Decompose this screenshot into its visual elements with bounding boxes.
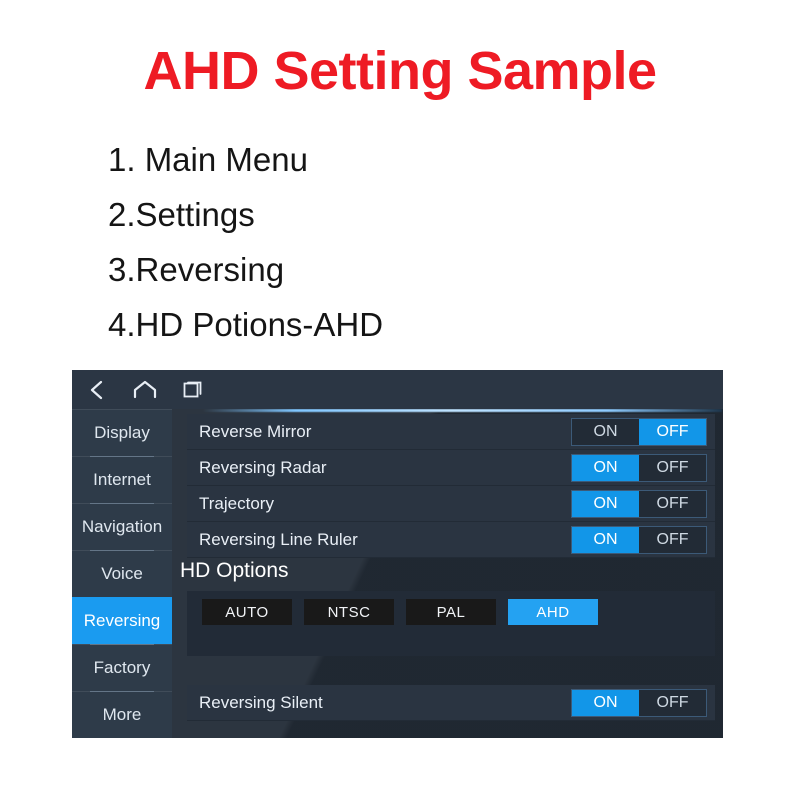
setting-row-reverse-mirror: Reverse Mirror ON OFF xyxy=(187,414,715,450)
setting-row-reversing-silent: Reversing Silent ON OFF xyxy=(187,685,715,721)
step-item-4: 4.HD Potions-AHD xyxy=(108,297,383,352)
sidebar-item-label: Reversing xyxy=(84,611,161,631)
sidebar-item-label: Display xyxy=(94,423,150,443)
step-item-2: 2.Settings xyxy=(108,187,383,242)
sidebar-item-more[interactable]: More xyxy=(72,691,172,738)
setting-label: Reversing Line Ruler xyxy=(199,530,358,550)
page-title: AHD Setting Sample xyxy=(0,44,800,98)
toggle-option-off[interactable]: OFF xyxy=(639,491,706,517)
sidebar-item-voice[interactable]: Voice xyxy=(72,550,172,597)
toggle-option-off[interactable]: OFF xyxy=(639,690,706,716)
sidebar-item-factory[interactable]: Factory xyxy=(72,644,172,691)
sidebar-item-label: Voice xyxy=(101,564,143,584)
toggle-option-on[interactable]: ON xyxy=(572,455,639,481)
toggle-option-off[interactable]: OFF xyxy=(639,527,706,553)
hd-option-label: AHD xyxy=(536,604,569,621)
recent-apps-icon[interactable] xyxy=(182,379,204,401)
step-item-1: 1. Main Menu xyxy=(108,132,383,187)
hd-option-label: NTSC xyxy=(328,604,371,621)
toggle-reverse-mirror[interactable]: ON OFF xyxy=(571,418,707,446)
settings-content-panel: Reverse Mirror ON OFF Reversing Radar ON… xyxy=(172,409,723,738)
toggle-trajectory[interactable]: ON OFF xyxy=(571,490,707,518)
toggle-reversing-radar[interactable]: ON OFF xyxy=(571,454,707,482)
setting-label: Reverse Mirror xyxy=(199,422,311,442)
toggle-reversing-line-ruler[interactable]: ON OFF xyxy=(571,526,707,554)
sidebar-item-label: Factory xyxy=(94,658,151,678)
setting-row-reversing-radar: Reversing Radar ON OFF xyxy=(187,450,715,486)
toggle-option-on[interactable]: ON xyxy=(572,491,639,517)
system-navigation-bar xyxy=(72,370,723,409)
toggle-option-on[interactable]: ON xyxy=(572,419,639,445)
chevron-left-icon[interactable] xyxy=(86,379,108,401)
setting-row-trajectory: Trajectory ON OFF xyxy=(187,486,715,522)
toggle-option-on[interactable]: ON xyxy=(572,690,639,716)
toggle-option-off[interactable]: OFF xyxy=(639,455,706,481)
sidebar-item-reversing[interactable]: Reversing xyxy=(72,597,172,644)
setting-label: Trajectory xyxy=(199,494,274,514)
top-highlight-line xyxy=(202,409,722,412)
settings-sidebar: Display Internet Navigation Voice Revers… xyxy=(72,409,172,738)
hd-option-pal[interactable]: PAL xyxy=(406,599,496,625)
settings-rows: Reverse Mirror ON OFF Reversing Radar ON… xyxy=(187,414,715,558)
hd-option-ntsc[interactable]: NTSC xyxy=(304,599,394,625)
hd-options-title: HD Options xyxy=(180,559,289,583)
toggle-reversing-silent[interactable]: ON OFF xyxy=(571,689,707,717)
home-icon[interactable] xyxy=(132,379,158,401)
hd-option-label: PAL xyxy=(437,604,466,621)
setting-label: Reversing Radar xyxy=(199,458,327,478)
hd-option-label: AUTO xyxy=(225,604,268,621)
hd-option-ahd[interactable]: AHD xyxy=(508,599,598,625)
hd-option-auto[interactable]: AUTO xyxy=(202,599,292,625)
steps-list: 1. Main Menu 2.Settings 3.Reversing 4.HD… xyxy=(108,132,383,352)
settings-rows-secondary: Reversing Silent ON OFF xyxy=(187,685,715,721)
setting-row-reversing-line-ruler: Reversing Line Ruler ON OFF xyxy=(187,522,715,558)
car-headunit-screen: Display Internet Navigation Voice Revers… xyxy=(72,370,723,738)
sidebar-item-navigation[interactable]: Navigation xyxy=(72,503,172,550)
sidebar-item-label: Navigation xyxy=(82,517,162,537)
sidebar-item-display[interactable]: Display xyxy=(72,409,172,456)
toggle-option-off[interactable]: OFF xyxy=(639,419,706,445)
setting-label: Reversing Silent xyxy=(199,693,323,713)
toggle-option-on[interactable]: ON xyxy=(572,527,639,553)
step-item-3: 3.Reversing xyxy=(108,242,383,297)
sidebar-item-label: Internet xyxy=(93,470,151,490)
hd-options-buttons: AUTO NTSC PAL AHD xyxy=(202,599,598,625)
sidebar-item-label: More xyxy=(103,705,142,725)
sidebar-item-internet[interactable]: Internet xyxy=(72,456,172,503)
